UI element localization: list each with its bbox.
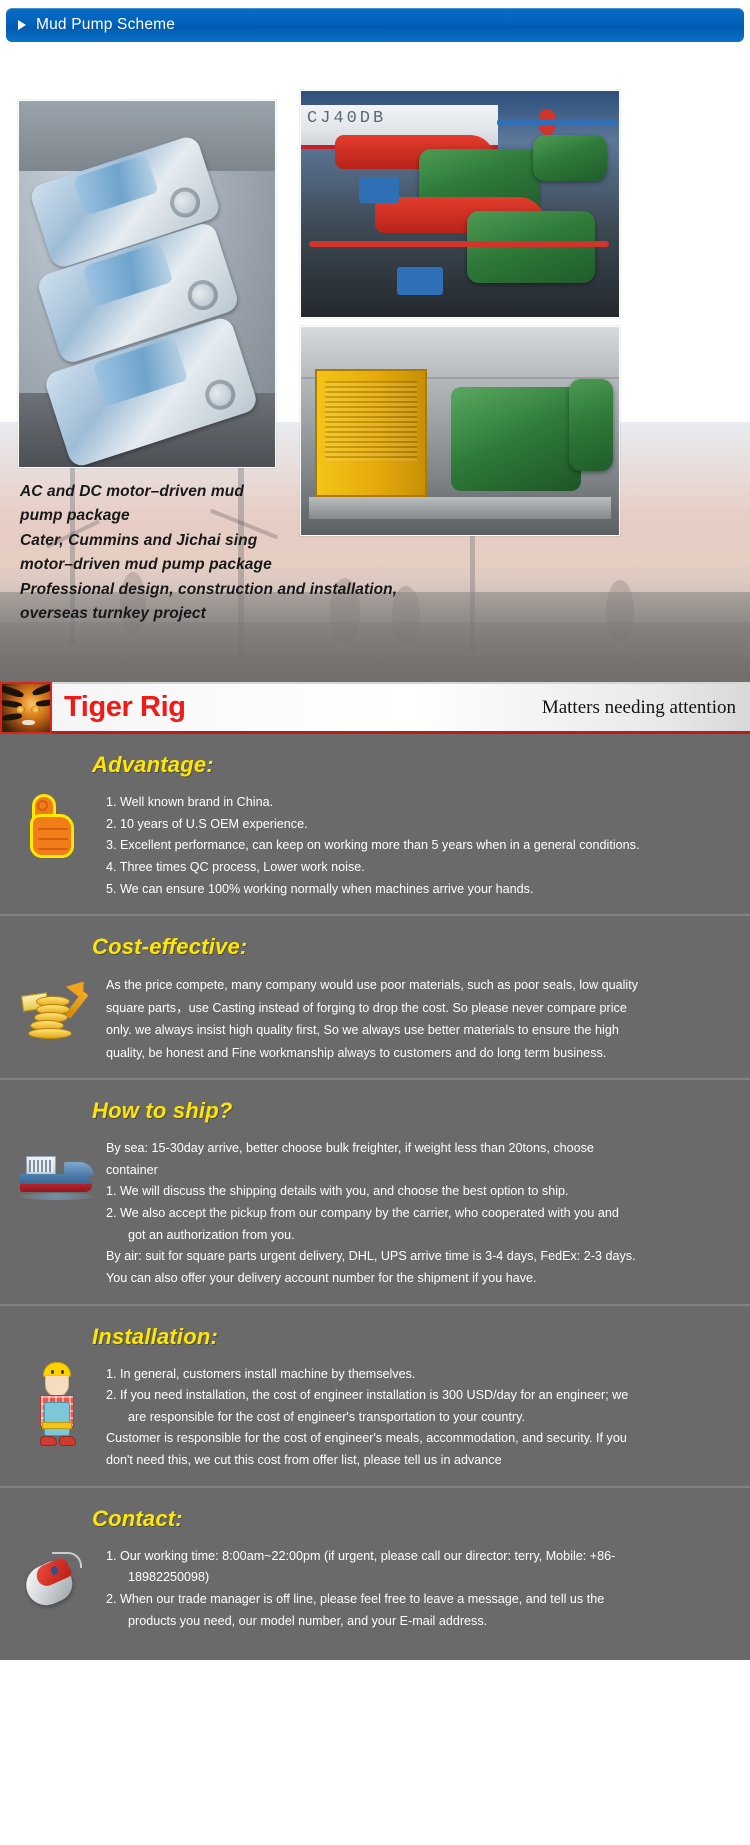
list-item-continuation: 18982250098) — [106, 1567, 732, 1589]
pump-flywheel — [202, 376, 240, 414]
page-title: Mud Pump Scheme — [36, 16, 175, 34]
list-item: 1. Our working time: 8:00am~22:00pm (if … — [106, 1546, 732, 1568]
green-pump-power-end-2 — [467, 211, 595, 283]
section-title-installation: Installation: — [92, 1324, 732, 1350]
list-item-continuation: are responsible for the cost of engineer… — [106, 1407, 732, 1429]
green-fluid-end — [533, 135, 607, 181]
pump-flywheel — [166, 184, 204, 222]
section-advantage: Advantage: 1. Well known brand in China.… — [0, 734, 750, 914]
section-title-how-to-ship: How to ship? — [92, 1098, 732, 1124]
blue-manifold-pipe — [497, 119, 617, 126]
paragraph-line: don't need this, we cut this cost from o… — [106, 1450, 732, 1472]
section-cost-effective: Cost-effective: As the price c — [0, 914, 750, 1078]
blue-skid-box-2 — [397, 267, 443, 295]
section-body-contact: 1. Our working time: 8:00am~22:00pm (if … — [106, 1544, 732, 1633]
coins-arrow-icon — [18, 972, 96, 1050]
section-title-contact: Contact: — [92, 1506, 732, 1532]
brand-name: Tiger Rig — [64, 691, 186, 724]
brand-banner: Tiger Rig Matters needing attention — [0, 682, 750, 734]
green-fluid-end-vertical — [569, 379, 613, 471]
cargo-ship-icon — [18, 1136, 96, 1214]
genset-louvre-panel — [325, 381, 417, 461]
hero-caption: AC and DC motor–driven mud pump package … — [20, 480, 450, 627]
worker-icon — [18, 1362, 96, 1440]
list-item: 2. 10 years of U.S OEM experience. — [106, 814, 732, 836]
paragraph-line: By air: suit for square parts urgent del… — [106, 1246, 732, 1268]
paragraph-line: quality, be honest and Fine workmanship … — [106, 1042, 732, 1064]
paragraph-line: only. we always insist high quality firs… — [106, 1019, 732, 1041]
caption-line-4: motor–driven mud pump package — [20, 553, 450, 577]
caption-line-2: pump package — [20, 504, 450, 528]
product-detail-page: Mud Pump Scheme — [0, 0, 750, 1845]
paragraph-line: As the price compete, many company would… — [106, 974, 732, 996]
blue-skid-box-1 — [359, 177, 399, 203]
tiger-head-icon — [0, 682, 52, 734]
hero-photo-collage: CJ40DB AC and DC motor–driven mud — [0, 42, 750, 682]
list-item-continuation: products you need, our model number, and… — [106, 1611, 732, 1633]
section-installation: Installation: 1. — [0, 1304, 750, 1486]
list-item: 1. Well known brand in China. — [106, 792, 732, 814]
paragraph-line: container — [106, 1160, 732, 1182]
list-item: 1. In general, customers install machine… — [106, 1364, 732, 1386]
section-title-advantage: Advantage: — [92, 752, 732, 778]
page-header: Mud Pump Scheme — [0, 0, 750, 42]
section-body-cost-effective: As the price compete, many company would… — [106, 972, 732, 1064]
paragraph-line: Customer is responsible for the cost of … — [106, 1428, 732, 1450]
caption-line-1: AC and DC motor–driven mud — [20, 480, 450, 504]
red-floor-pipe — [309, 241, 609, 247]
triangle-right-icon — [18, 20, 26, 30]
caption-line-3: Cater, Cummins and Jichai sing — [20, 529, 450, 553]
yellow-genset-enclosure — [315, 369, 427, 497]
green-mud-pump-unit — [451, 387, 581, 491]
section-body-how-to-ship: By sea: 15-30day arrive, better choose b… — [106, 1136, 732, 1290]
paragraph-line: By sea: 15-30day arrive, better choose b… — [106, 1138, 732, 1160]
photo-blue-ac-dc-mud-pumps — [18, 100, 276, 468]
list-item-continuation: got an authorization from you. — [106, 1225, 732, 1247]
caption-line-6: overseas turnkey project — [20, 602, 450, 626]
list-item: 3. Excellent performance, can keep on wo… — [106, 835, 732, 857]
section-body-installation: 1. In general, customers install machine… — [106, 1362, 732, 1472]
list-item: 2. We also accept the pickup from our co… — [106, 1203, 732, 1225]
photo-cj40-red-green-pumps: CJ40DB — [300, 90, 620, 318]
section-body-advantage: 1. Well known brand in China. 2. 10 year… — [106, 790, 732, 900]
list-item: 1. We will discuss the shipping details … — [106, 1181, 732, 1203]
list-item: 4. Three times QC process, Lower work no… — [106, 857, 732, 879]
section-how-to-ship: How to ship? By sea: 15-30day arrive, be… — [0, 1078, 750, 1304]
brand-right-title: Matters needing attention — [542, 697, 736, 719]
paragraph-line: square parts，use Casting instead of forg… — [106, 997, 732, 1019]
section-title-cost-effective: Cost-effective: — [92, 934, 732, 960]
thumbs-up-icon — [18, 790, 96, 868]
list-item: 2. If you need installation, the cost of… — [106, 1385, 732, 1407]
section-contact: Contact: 1. Our working time: 8:00am~22:… — [0, 1486, 750, 1647]
mud-pump-scheme-header-bar[interactable]: Mud Pump Scheme — [6, 8, 744, 42]
pump-flywheel — [184, 276, 222, 314]
computer-mouse-icon — [18, 1544, 96, 1622]
rig-sign-code: CJ40DB — [301, 105, 498, 132]
matters-needing-attention-panel: Advantage: 1. Well known brand in China.… — [0, 734, 750, 1660]
list-item: 5. We can ensure 100% working normally w… — [106, 879, 732, 901]
list-item: 2. When our trade manager is off line, p… — [106, 1589, 732, 1611]
caption-line-5: Professional design, construction and in… — [20, 578, 450, 602]
paragraph-line: You can also offer your delivery account… — [106, 1268, 732, 1290]
